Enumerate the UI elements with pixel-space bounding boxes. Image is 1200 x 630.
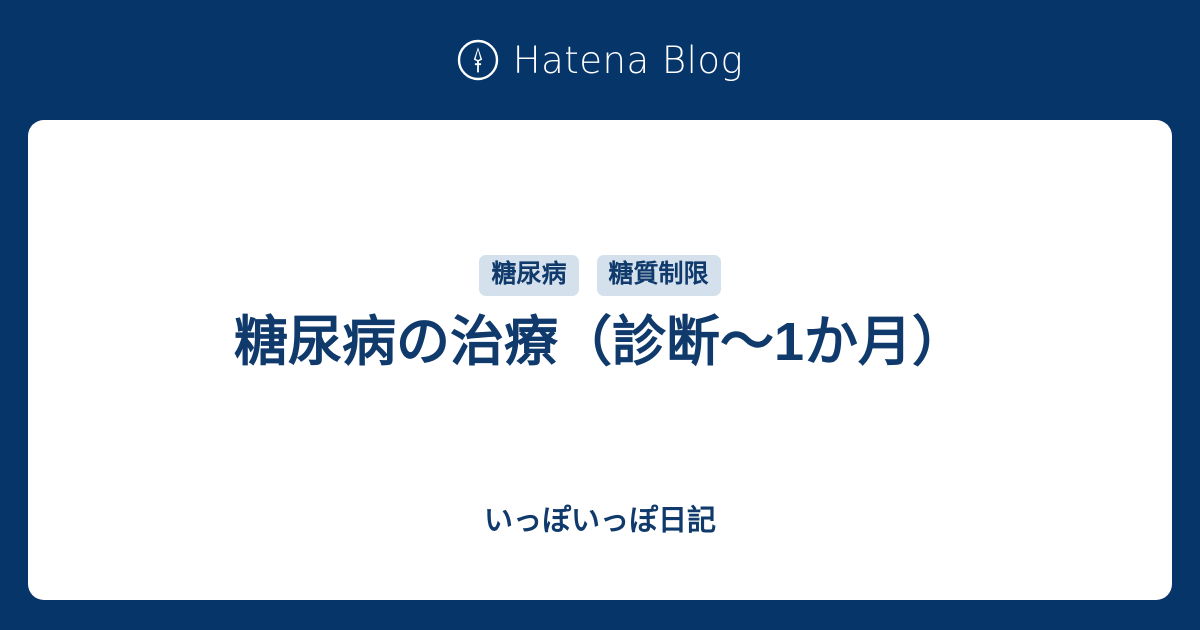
tag-chip-1[interactable]: 糖尿病 bbox=[479, 255, 578, 296]
entry-title: 糖尿病の治療（診断〜1か月） bbox=[68, 308, 1132, 377]
ogp-canvas: Hatena Blog 糖尿病 糖質制限 糖尿病の治療（診断〜1か月） いっぽい… bbox=[0, 0, 1200, 630]
hatena-blog-wordmark: Hatena Blog bbox=[513, 42, 744, 79]
tag-list: 糖尿病 糖質制限 bbox=[28, 255, 1172, 296]
tag-chip-2[interactable]: 糖質制限 bbox=[597, 255, 721, 296]
brand-header: Hatena Blog bbox=[0, 0, 1200, 120]
blog-name[interactable]: いっぽいっぽ日記 bbox=[68, 504, 1132, 539]
hatena-pen-nib-icon bbox=[457, 39, 499, 81]
entry-card: 糖尿病 糖質制限 糖尿病の治療（診断〜1か月） いっぽいっぽ日記 bbox=[28, 120, 1172, 600]
